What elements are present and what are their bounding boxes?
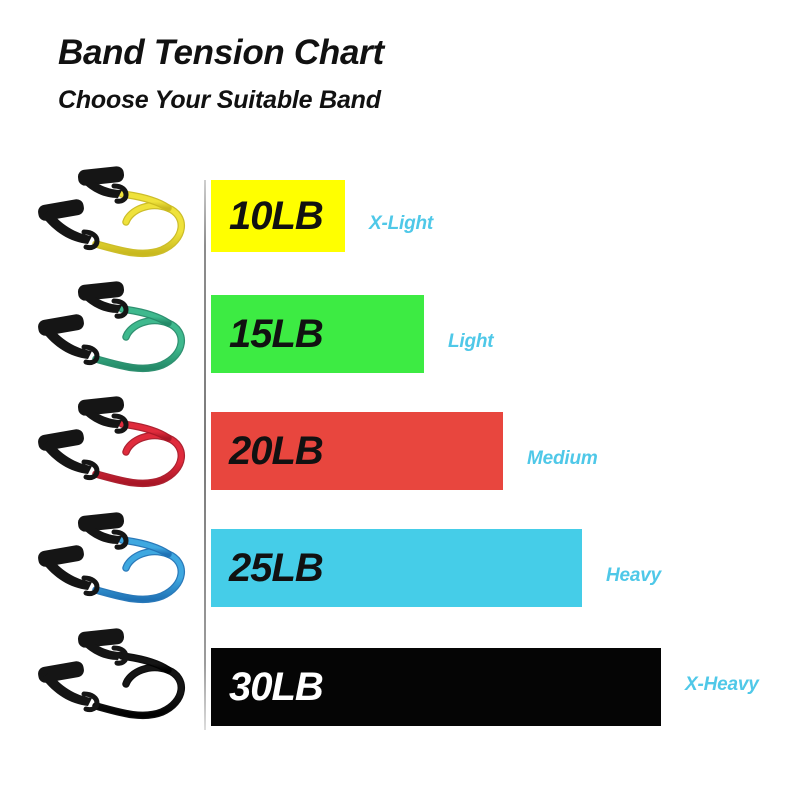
band-illustration — [22, 166, 198, 274]
level-label-light: Light — [448, 331, 493, 353]
bar-value-label: 15LB — [211, 314, 323, 354]
level-label-heavy: Heavy — [606, 565, 661, 587]
bar-value-label: 20LB — [211, 431, 323, 471]
level-label-medium: Medium — [527, 448, 598, 470]
band-illustration — [22, 396, 198, 504]
resistance-band-red — [22, 396, 198, 504]
bar-15lb[interactable]: 15LB — [211, 295, 424, 373]
vertical-axis — [204, 180, 206, 730]
bar-30lb[interactable]: 30LB — [211, 648, 661, 726]
resistance-band-black — [22, 628, 198, 736]
resistance-band-green — [22, 281, 198, 389]
bar-value-label: 10LB — [211, 196, 323, 236]
band-illustration — [22, 281, 198, 389]
level-label-x-light: X-Light — [369, 213, 433, 235]
bar-20lb[interactable]: 20LB — [211, 412, 503, 490]
resistance-band-blue — [22, 512, 198, 620]
chart-canvas: Band Tension Chart Choose Your Suitable … — [0, 0, 800, 800]
page-subtitle: Choose Your Suitable Band — [58, 86, 381, 115]
resistance-band-yellow — [22, 166, 198, 274]
band-illustration — [22, 628, 198, 736]
bar-10lb[interactable]: 10LB — [211, 180, 345, 252]
level-label-x-heavy: X-Heavy — [685, 674, 759, 696]
bar-25lb[interactable]: 25LB — [211, 529, 582, 607]
page-title: Band Tension Chart — [58, 33, 384, 73]
bar-value-label: 30LB — [211, 667, 323, 707]
band-illustration — [22, 512, 198, 620]
bar-value-label: 25LB — [211, 548, 323, 588]
